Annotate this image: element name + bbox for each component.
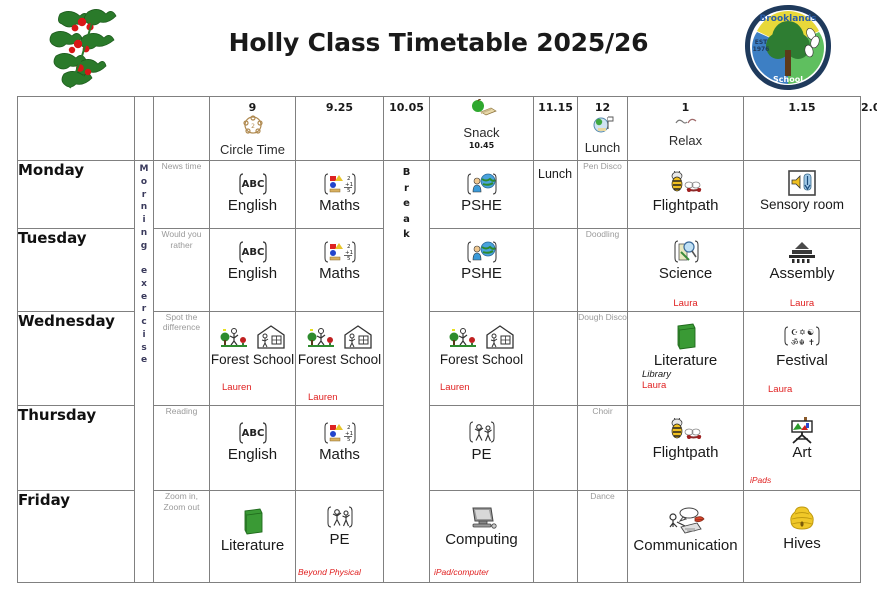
intro-wednesday: Spot the difference <box>154 311 210 406</box>
slot-thursday-art: Art iPads <box>744 406 861 491</box>
subject-label: Maths <box>296 266 383 283</box>
svg-text:✝: ✝ <box>808 338 815 347</box>
slot-monday-flightpath: Flightpath <box>628 161 744 229</box>
timetable-page: Holly Class Timetable 2025/26 Brooklands… <box>0 0 877 596</box>
snack-label: Snack <box>430 125 533 140</box>
svg-text:ॐ: ॐ <box>791 338 798 347</box>
lunch-cell-thursday <box>534 406 578 491</box>
time-label-1115: 11.15 <box>534 97 577 114</box>
lunch-label: Lunch <box>578 140 627 155</box>
lunch-cell-wednesday <box>534 311 578 406</box>
svg-text:1976: 1976 <box>753 46 770 53</box>
header-blank-intro <box>154 97 210 161</box>
forest-school-icon <box>448 324 478 352</box>
subject-label: Maths <box>296 447 383 464</box>
intro-friday: Zoom in, Zoom out <box>154 491 210 583</box>
slot-thursday-flightpath: Flightpath <box>628 406 744 491</box>
green-book-icon <box>671 322 701 352</box>
subject-label: Hives <box>744 536 860 553</box>
forest-school-icon <box>306 324 336 352</box>
slot-friday-pe: PE Beyond Physical <box>296 491 384 583</box>
subject-label: Forest School <box>210 353 295 368</box>
resource-note: Beyond Physical <box>298 567 361 577</box>
beehive-icon <box>788 505 816 535</box>
table-row-monday: Monday Morning exercise News time <box>18 161 861 229</box>
abc-english-icon: ABC <box>237 171 269 197</box>
intro-monday: News time <box>154 161 210 229</box>
svg-text:☬: ☬ <box>799 338 805 347</box>
slot-tuesday-maths: 2 +1 5 Maths <box>296 229 384 312</box>
maths-shapes-numbers-icon: 2 +1 5 <box>323 239 357 265</box>
pe-figure-icon <box>325 505 355 531</box>
svg-text:ABC: ABC <box>241 428 264 439</box>
school-building-icon <box>255 324 287 352</box>
brooklands-school-crest-icon: Brooklands EST 1976 School <box>741 2 835 94</box>
maths-shapes-numbers-icon: 2 +1 5 <box>323 171 357 197</box>
bee-flightpath-icon <box>663 418 709 444</box>
circle-time-group-icon: 2 <box>240 114 266 136</box>
lunch-cell-friday <box>534 491 578 583</box>
slot-wednesday-festival: ☪ ✡ ☯ ॐ ☬ ✝ Festival Laura <box>744 311 861 406</box>
subject-label: Literature <box>628 353 743 370</box>
forest-school-icon <box>219 324 249 352</box>
svg-text:ABC: ABC <box>241 247 264 258</box>
relax-thursday: Choir <box>578 406 628 491</box>
resource-note: iPad/computer <box>434 567 489 577</box>
slot-friday-computing: Computing iPad/computer <box>430 491 534 583</box>
subject-label: Computing <box>430 532 533 549</box>
subject-label: English <box>210 198 295 215</box>
staff-name: Laura <box>768 384 792 395</box>
morning-exercise-label: Morning exercise <box>135 161 153 367</box>
header-relax: 1 Relax <box>628 97 744 161</box>
subject-label: Forest School <box>430 353 533 368</box>
staff-name: Lauren <box>440 382 470 393</box>
time-label-12: 12 <box>578 97 627 114</box>
pe-figure-icon <box>467 420 497 446</box>
header-snack: Snack 10.45 <box>430 97 534 161</box>
subject-label: Assembly <box>744 266 860 283</box>
subject-label: Literature <box>210 538 295 555</box>
header-slot-1005: 10.05 <box>384 97 430 161</box>
subject-label: PSHE <box>430 266 533 283</box>
staff-name: Lauren <box>222 382 252 393</box>
computer-icon <box>465 505 499 531</box>
intro-thursday: Reading <box>154 406 210 491</box>
time-label-1: 1 <box>628 97 743 114</box>
circle-time-label: Circle Time <box>210 142 295 157</box>
abc-english-icon: ABC <box>237 239 269 265</box>
bee-flightpath-icon <box>663 171 709 197</box>
svg-text:☪: ☪ <box>791 328 798 337</box>
subject-label: Sensory room <box>744 198 860 213</box>
subject-label: English <box>210 266 295 283</box>
subject-label: Communication <box>628 538 743 555</box>
svg-text:Brooklands: Brooklands <box>759 14 816 24</box>
slot-wednesday-forest-3: Forest School Lauren <box>430 311 534 406</box>
timetable-grid: 9 2 Circle Time 9.25 <box>17 96 861 583</box>
festival-symbols-icon: ☪ ✡ ☯ ॐ ☬ ✝ <box>781 324 823 352</box>
pshe-person-globe-icon <box>465 239 499 265</box>
snack-time: 10.45 <box>430 141 533 150</box>
svg-text:5: 5 <box>347 256 351 262</box>
pshe-person-globe-icon <box>465 171 499 197</box>
subject-label: PE <box>430 447 533 464</box>
header-slot-115: 1.15 <box>744 97 861 161</box>
morning-exercise-cell: Morning exercise <box>135 161 154 583</box>
slot-tuesday-pshe: PSHE <box>430 229 534 312</box>
subject-label: Flightpath <box>628 198 743 215</box>
day-label-friday: Friday <box>18 491 135 583</box>
day-label-monday: Monday <box>18 161 135 229</box>
relax-icon <box>673 115 699 127</box>
communication-speech-icon <box>663 507 709 537</box>
relax-wednesday: Dough Disco <box>578 311 628 406</box>
lunch-plate-icon <box>591 114 615 134</box>
time-label-9: 9 <box>210 97 295 114</box>
staff-name: Laura <box>673 298 697 309</box>
slot-monday-sensory: Sensory room <box>744 161 861 229</box>
slot-monday-english: ABC English <box>210 161 296 229</box>
svg-text:✡: ✡ <box>799 328 806 337</box>
school-building-icon <box>484 324 516 352</box>
abc-english-icon: ABC <box>237 420 269 446</box>
lunch-cell-tuesday <box>534 229 578 312</box>
relax-label: Relax <box>628 133 743 148</box>
header-slot-9: 9 2 Circle Time <box>210 97 296 161</box>
relax-monday: Pen Disco <box>578 161 628 229</box>
art-easel-icon <box>787 416 817 444</box>
header-blank-morning <box>135 97 154 161</box>
header-lunch: 12 Lunch <box>578 97 628 161</box>
subject-label: Art <box>744 445 860 462</box>
svg-text:2: 2 <box>251 123 255 130</box>
header-slot-925: 9.25 <box>296 97 384 161</box>
relax-tuesday: Doodling <box>578 229 628 312</box>
header-slot-1115: 11.15 <box>534 97 578 161</box>
day-label-wednesday: Wednesday <box>18 311 135 406</box>
subject-label: English <box>210 447 295 464</box>
subject-label: Festival <box>744 353 860 370</box>
slot-thursday-english: ABC English <box>210 406 296 491</box>
subject-label: PSHE <box>430 198 533 215</box>
break-label: Break <box>384 161 429 243</box>
staff-name: Lauren <box>308 392 338 403</box>
day-label-thursday: Thursday <box>18 406 135 491</box>
svg-text:School: School <box>773 75 803 84</box>
subject-label: Forest School <box>296 353 383 368</box>
slot-thursday-pe: PE <box>430 406 534 491</box>
subject-label: PE <box>296 532 383 549</box>
svg-text:ABC: ABC <box>241 179 264 190</box>
time-label-115: 1.15 <box>744 97 860 114</box>
slot-wednesday-forest-1: Forest School Lauren <box>210 311 296 406</box>
science-magnifier-icon <box>672 239 700 265</box>
header-blank-day <box>18 97 135 161</box>
slot-tuesday-english: ABC English <box>210 229 296 312</box>
break-cell: Break <box>384 161 430 583</box>
svg-text:5: 5 <box>347 188 351 194</box>
resource-note: iPads <box>750 475 771 485</box>
svg-text:EST: EST <box>755 39 768 46</box>
subject-label: Science <box>628 266 743 283</box>
assembly-icon <box>785 241 819 265</box>
slot-wednesday-forest-2: Forest School Lauren <box>296 311 384 406</box>
slot-friday-literature: Literature <box>210 491 296 583</box>
staff-name: Laura <box>642 380 743 391</box>
subject-label: Flightpath <box>628 445 743 462</box>
svg-text:5: 5 <box>347 437 351 443</box>
sensory-room-icon <box>787 169 817 197</box>
slot-tuesday-assembly: Assembly Laura <box>744 229 861 312</box>
lunch-cell-monday: Lunch <box>534 161 578 229</box>
maths-shapes-numbers-icon: 2 +1 5 <box>323 420 357 446</box>
intro-tuesday: Would you rather <box>154 229 210 312</box>
page-header: Holly Class Timetable 2025/26 Brooklands… <box>0 0 877 96</box>
room-note: Library <box>642 369 743 380</box>
green-book-icon <box>238 507 268 537</box>
slot-thursday-maths: 2 +1 5 Maths <box>296 406 384 491</box>
relax-friday: Dance <box>578 491 628 583</box>
slot-friday-hives: Hives <box>744 491 861 583</box>
staff-name: Laura <box>790 298 814 309</box>
slot-monday-pshe: PSHE <box>430 161 534 229</box>
slot-wednesday-literature: Literature Library Laura <box>628 311 744 406</box>
svg-text:☯: ☯ <box>807 328 814 337</box>
slot-friday-communication: Communication <box>628 491 744 583</box>
day-label-tuesday: Tuesday <box>18 229 135 312</box>
subject-label: Maths <box>296 198 383 215</box>
school-building-icon <box>342 324 374 352</box>
lunch-word: Lunch <box>534 161 577 181</box>
slot-tuesday-science: Science Laura <box>628 229 744 312</box>
time-label-1005: 10.05 <box>384 97 429 114</box>
time-label-925: 9.25 <box>296 97 383 114</box>
apple-book-snack-icon <box>467 99 497 119</box>
timetable-header-row: 9 2 Circle Time 9.25 <box>18 97 861 161</box>
slot-monday-maths: 2 +1 5 Maths <box>296 161 384 229</box>
